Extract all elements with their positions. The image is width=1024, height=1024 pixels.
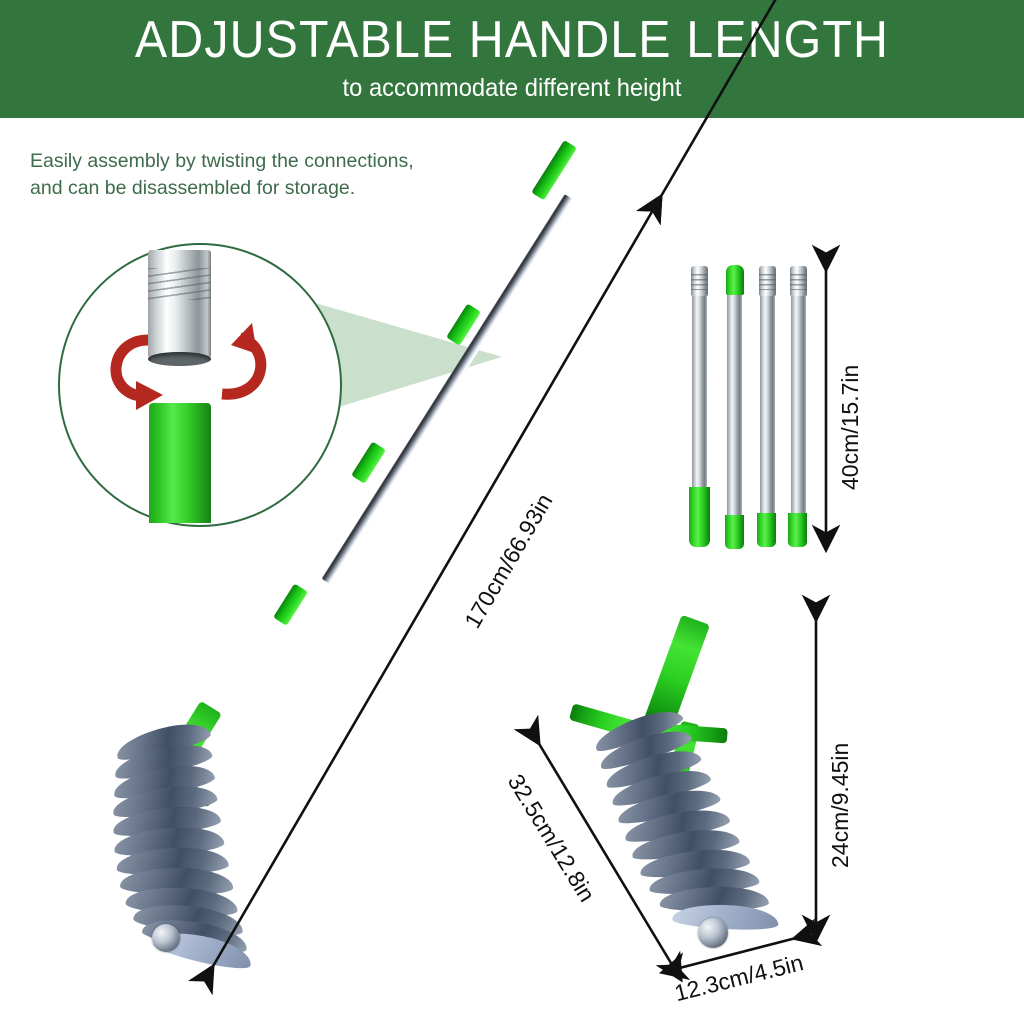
pole-joint-3 — [273, 583, 308, 625]
pole-rod-3 — [760, 280, 775, 520]
pole-rod-3-threads — [759, 274, 776, 290]
page-title: ADJUSTABLE HANDLE LENGTH — [36, 12, 988, 68]
header-banner: ADJUSTABLE HANDLE LENGTH to accommodate … — [0, 0, 1024, 118]
pole-rod-1-threads — [691, 274, 708, 290]
page-subtitle: to accommodate different height — [26, 74, 999, 102]
dim-label-head-width: 32.5cm/12.8in — [503, 770, 600, 906]
dim-label-head-height: 24cm/9.45in — [828, 743, 853, 868]
dim-label-head-depth: 12.3cm/4.5in — [672, 950, 806, 1006]
intro-line-2: and can be disassembled for storage. — [30, 175, 550, 202]
intro-line-1: Easily assembly by twisting the connecti… — [30, 148, 550, 175]
green-tube-section — [149, 403, 211, 523]
infographic-page: ADJUSTABLE HANDLE LENGTH to accommodate … — [0, 0, 1024, 1024]
pole-rod-2-tip — [725, 515, 744, 549]
head-roller-axle — [698, 918, 728, 948]
pole-rod-3-tip — [757, 513, 776, 547]
pole-rod-4-threads — [790, 274, 807, 290]
pole-rod-4-tip — [788, 513, 807, 547]
pole-rod-1-grip — [689, 487, 710, 547]
threaded-tube-icon — [148, 250, 211, 360]
pole-rod-2 — [727, 282, 742, 522]
intro-text: Easily assembly by twisting the connecti… — [30, 148, 550, 202]
pole-rod-4 — [791, 280, 806, 520]
pole-rod-1 — [692, 280, 707, 495]
tube-opening — [148, 352, 211, 366]
tube-threads — [148, 268, 211, 300]
pole-rod-2-top-grip — [726, 265, 744, 295]
pole-joint-2 — [351, 441, 386, 483]
dim-label-pole-section: 40cm/15.7in — [838, 365, 863, 490]
dim-label-handle-length: 170cm/66.93in — [460, 490, 558, 633]
roller-axle-cap — [152, 924, 180, 952]
